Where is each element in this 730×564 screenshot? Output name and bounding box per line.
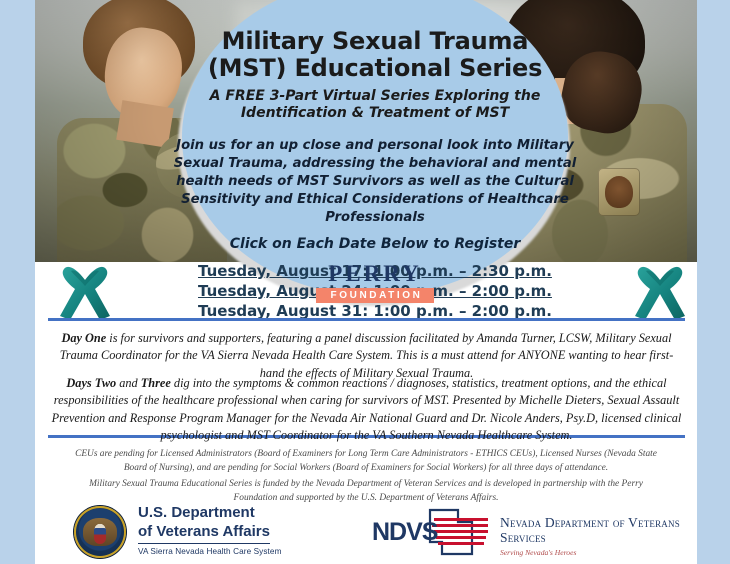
flyer-poster: Military Sexual Trauma (MST) Educational… — [0, 0, 730, 564]
va-line-3: VA Sierra Nevada Health Care System — [138, 547, 282, 556]
days-two-lead: Days Two — [66, 376, 116, 390]
poster-title-line1: Military Sexual Trauma — [130, 28, 620, 55]
va-line-2: of Veterans Affairs — [138, 523, 270, 544]
ndvs-abbreviation: NDVS — [372, 518, 437, 547]
days-three-lead: Three — [141, 376, 171, 390]
va-seal-icon — [74, 506, 126, 558]
poster-subtitle-line2: Identification & Treatment of MST — [130, 105, 620, 122]
poster-title-line2: (MST) Educational Series — [130, 55, 620, 82]
register-call-to-action: Click on Each Date Below to Register — [130, 236, 620, 252]
day-one-text: is for survivors and supporters, featuri… — [60, 331, 674, 380]
va-logo: U.S. Department of Veterans Affairs VA S… — [74, 504, 344, 560]
awareness-ribbon-right-icon — [625, 256, 695, 322]
funding-note: Military Sexual Trauma Educational Serie… — [80, 478, 652, 505]
divider-top — [48, 318, 685, 321]
ceu-note: CEUs are pending for Licensed Administra… — [66, 448, 666, 475]
perry-foundation-logo: PERRY FOUNDATION — [316, 262, 434, 303]
day-one-lead: Day One — [61, 331, 106, 345]
va-line-1: U.S. Department — [138, 504, 282, 523]
awareness-ribbon-left-icon — [50, 256, 120, 322]
ndvs-tagline: Serving Nevada's Heroes — [500, 548, 692, 557]
ndvs-full-name: Nevada Department of Veterans Services — [500, 516, 692, 546]
perry-foundation-word: FOUNDATION — [316, 288, 434, 303]
ndvs-logo: NDVS Nevada Department of Veterans Servi… — [372, 506, 692, 558]
perry-name: PERRY — [316, 262, 434, 285]
days-two-mid: and — [116, 376, 141, 390]
days-two-three-paragraph: Days Two and Three dig into the symptoms… — [48, 375, 685, 445]
poster-blurb: Join us for an up close and personal loo… — [130, 137, 620, 226]
poster-subtitle-line1: A FREE 3-Part Virtual Series Exploring t… — [130, 88, 620, 105]
